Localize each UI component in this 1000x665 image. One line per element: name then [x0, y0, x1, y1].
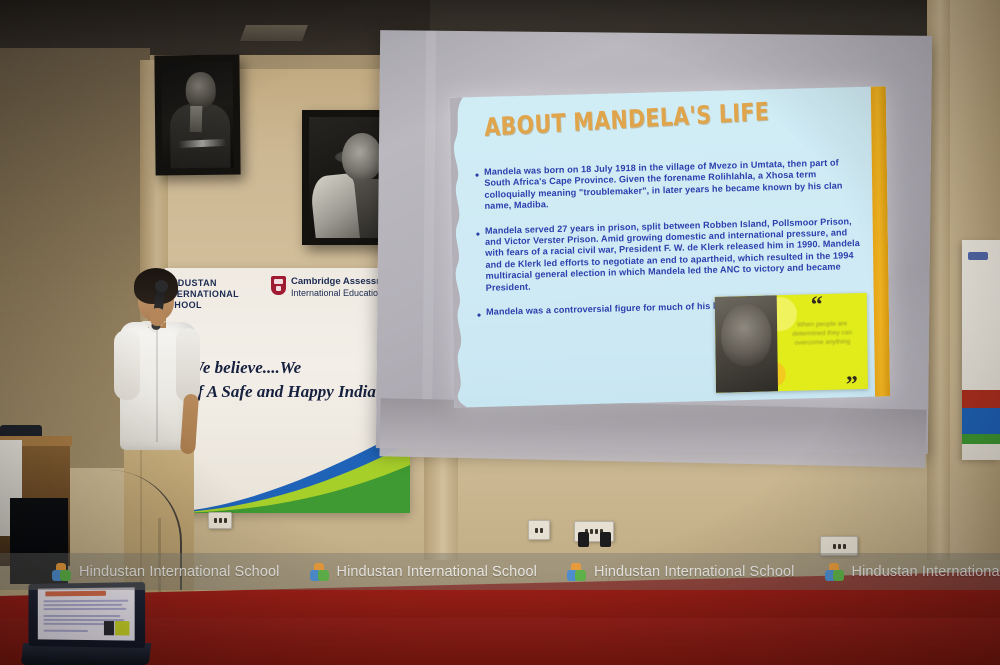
watermark-item: Hindustan International School [567, 563, 795, 581]
bullet-dot-icon: • [475, 167, 480, 213]
watermark-item: Hindustan International School [825, 563, 1000, 581]
bullet-dot-icon: • [477, 307, 481, 321]
watermark-text: Hindustan International School [337, 564, 538, 580]
presentation-slide: ABOUT MANDELA'S LIFE • Mandela was born … [450, 86, 890, 407]
cloth-fold [422, 31, 436, 449]
poster-band-green [962, 434, 1000, 444]
shield-icon [271, 276, 286, 295]
stage-carpet-front [0, 618, 1000, 665]
hand [150, 308, 165, 326]
laptop-screen [38, 587, 135, 640]
portrait-image-mandela [161, 62, 233, 169]
watermark-text: Hindustan International School [79, 564, 280, 580]
slide-title: ABOUT MANDELA'S LIFE [484, 97, 770, 142]
arm-left [114, 330, 140, 400]
portrait-head [186, 72, 216, 108]
ceiling-light-fixture [240, 25, 308, 41]
photo-scene: HINDUSTAN INTERNATIONAL SCHOOL Cambridge… [0, 0, 1000, 665]
portrait-shirt [190, 106, 203, 132]
banner-tagline: We believe....We of A Safe and Happy Ind… [189, 356, 407, 404]
wall-poster-right [962, 240, 1000, 460]
bullet-text: Mandela served 27 years in prison, split… [485, 215, 869, 293]
portrait-shawl [309, 173, 360, 238]
laptop[interactable] [22, 583, 144, 665]
close-quote-icon: ” [846, 372, 858, 393]
bullet-text: Mandela was a controversial figure for m… [486, 301, 729, 321]
socket-holes [212, 516, 228, 525]
laptop-slide-image [115, 621, 129, 635]
tagline-line-2: of A Safe and Happy India [189, 380, 407, 404]
bullet-dot-icon: • [476, 226, 481, 295]
list-item: • Mandela was born on 18 July 1918 in th… [475, 157, 868, 213]
poster-band-red [962, 390, 1000, 408]
cloth-fold [896, 36, 910, 454]
mandela-quote-card: “ When people are determined they can ov… [715, 293, 868, 393]
arm-right [176, 328, 200, 402]
mandela-photo [715, 295, 778, 393]
projection-screen-hem [379, 398, 926, 467]
watermark-text: Hindustan International School [594, 564, 795, 580]
portrait-head [721, 303, 772, 366]
socket-holes [824, 540, 854, 552]
laptop-slide-photo [104, 621, 114, 635]
poster-band-blue [962, 408, 1000, 434]
people-icon [825, 563, 844, 581]
shirt-placket [156, 330, 158, 442]
list-item: • Mandela served 27 years in prison, spl… [476, 215, 869, 294]
laptop-slide-title [45, 591, 106, 597]
watermark-item: Hindustan International School [52, 563, 280, 581]
people-icon [52, 563, 71, 581]
watermark-item: Hindustan International School [310, 563, 538, 581]
portrait-head [342, 133, 382, 181]
quote-text: When people are determined they can over… [781, 319, 863, 348]
people-icon [310, 563, 329, 581]
portrait-frame-mandela [154, 55, 240, 176]
poster-logo [968, 252, 988, 260]
people-icon [567, 563, 586, 581]
open-quote-icon: “ [811, 293, 823, 319]
forearm-right [180, 394, 199, 455]
watermark-bar: Hindustan International School Hindustan… [0, 553, 1000, 590]
bullet-text: Mandela was born on 18 July 1918 in the … [484, 157, 867, 213]
watermark-text: Hindustan International School [852, 564, 1000, 580]
wall-socket[interactable] [208, 512, 232, 529]
tagline-line-1: We believe....We [189, 356, 407, 380]
